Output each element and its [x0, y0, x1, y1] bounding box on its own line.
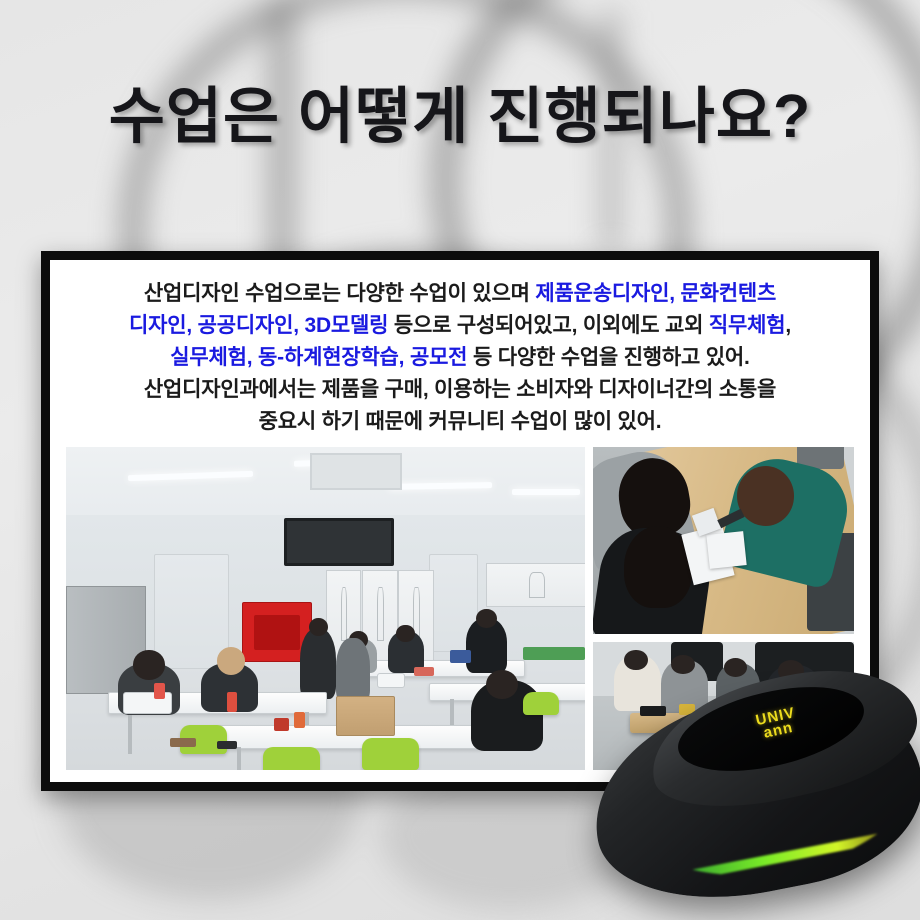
body-line: 실무체험, 동-하계현장학습, 공모전 등 다양한 수업을 진행하고 있어. [68, 342, 852, 374]
content-card-frame: 산업디자인 수업으로는 다양한 수업이 있으며 제품운송디자인, 문화컨텐츠 디… [41, 251, 879, 791]
page-title: 수업은 어떻게 진행되나요? [0, 66, 920, 155]
body-line: 산업디자인과에서는 제품을 구매, 이용하는 소비자와 디자이너간의 소통을 [68, 374, 852, 406]
body-paragraph: 산업디자인 수업으로는 다양한 수업이 있으며 제품운송디자인, 문화컨텐츠 디… [66, 274, 854, 438]
poster-canvas: 수업은 어떻게 진행되나요? 산업디자인 수업으로는 다양한 수업이 있으며 제… [0, 0, 920, 920]
body-line: 중요시 하기 때문에 커뮤니티 수업이 많이 있어. [68, 406, 852, 438]
body-text-run: 제품운송디자인, 문화컨텐츠 [535, 282, 776, 305]
body-line: 산업디자인 수업으로는 다양한 수업이 있으며 제품운송디자인, 문화컨텐츠 [68, 278, 852, 310]
body-text-run: 중요시 하기 때문에 커뮤니티 수업이 많이 있어. [259, 410, 662, 433]
photo-right-column [593, 447, 854, 770]
body-text-run: , [785, 314, 791, 337]
body-text-run: 직무체험 [709, 314, 785, 337]
photo-collage [66, 447, 854, 770]
body-text-run: 산업디자인과에서는 제품을 구매, 이용하는 소비자와 디자이너간의 소통을 [144, 378, 776, 401]
body-text-run: 등 다양한 수업을 진행하고 있어. [467, 346, 749, 369]
photo-classroom-wide [66, 447, 585, 770]
body-text-run: 등으로 구성되어있고, 이외에도 교외 [388, 314, 709, 337]
content-card: 산업디자인 수업으로는 다양한 수업이 있으며 제품운송디자인, 문화컨텐츠 디… [50, 260, 870, 782]
photo-desk-collaboration [593, 447, 854, 634]
body-text-run: 실무체험, 동-하계현장학습, 공모전 [170, 346, 467, 369]
body-text-run: 디자인, 공공디자인, 3D모델링 [129, 314, 388, 337]
photo-workshop-group [593, 642, 854, 770]
body-text-run: 산업디자인 수업으로는 다양한 수업이 있으며 [144, 282, 535, 305]
body-line: 디자인, 공공디자인, 3D모델링 등으로 구성되어있고, 이외에도 교외 직무… [68, 310, 852, 342]
